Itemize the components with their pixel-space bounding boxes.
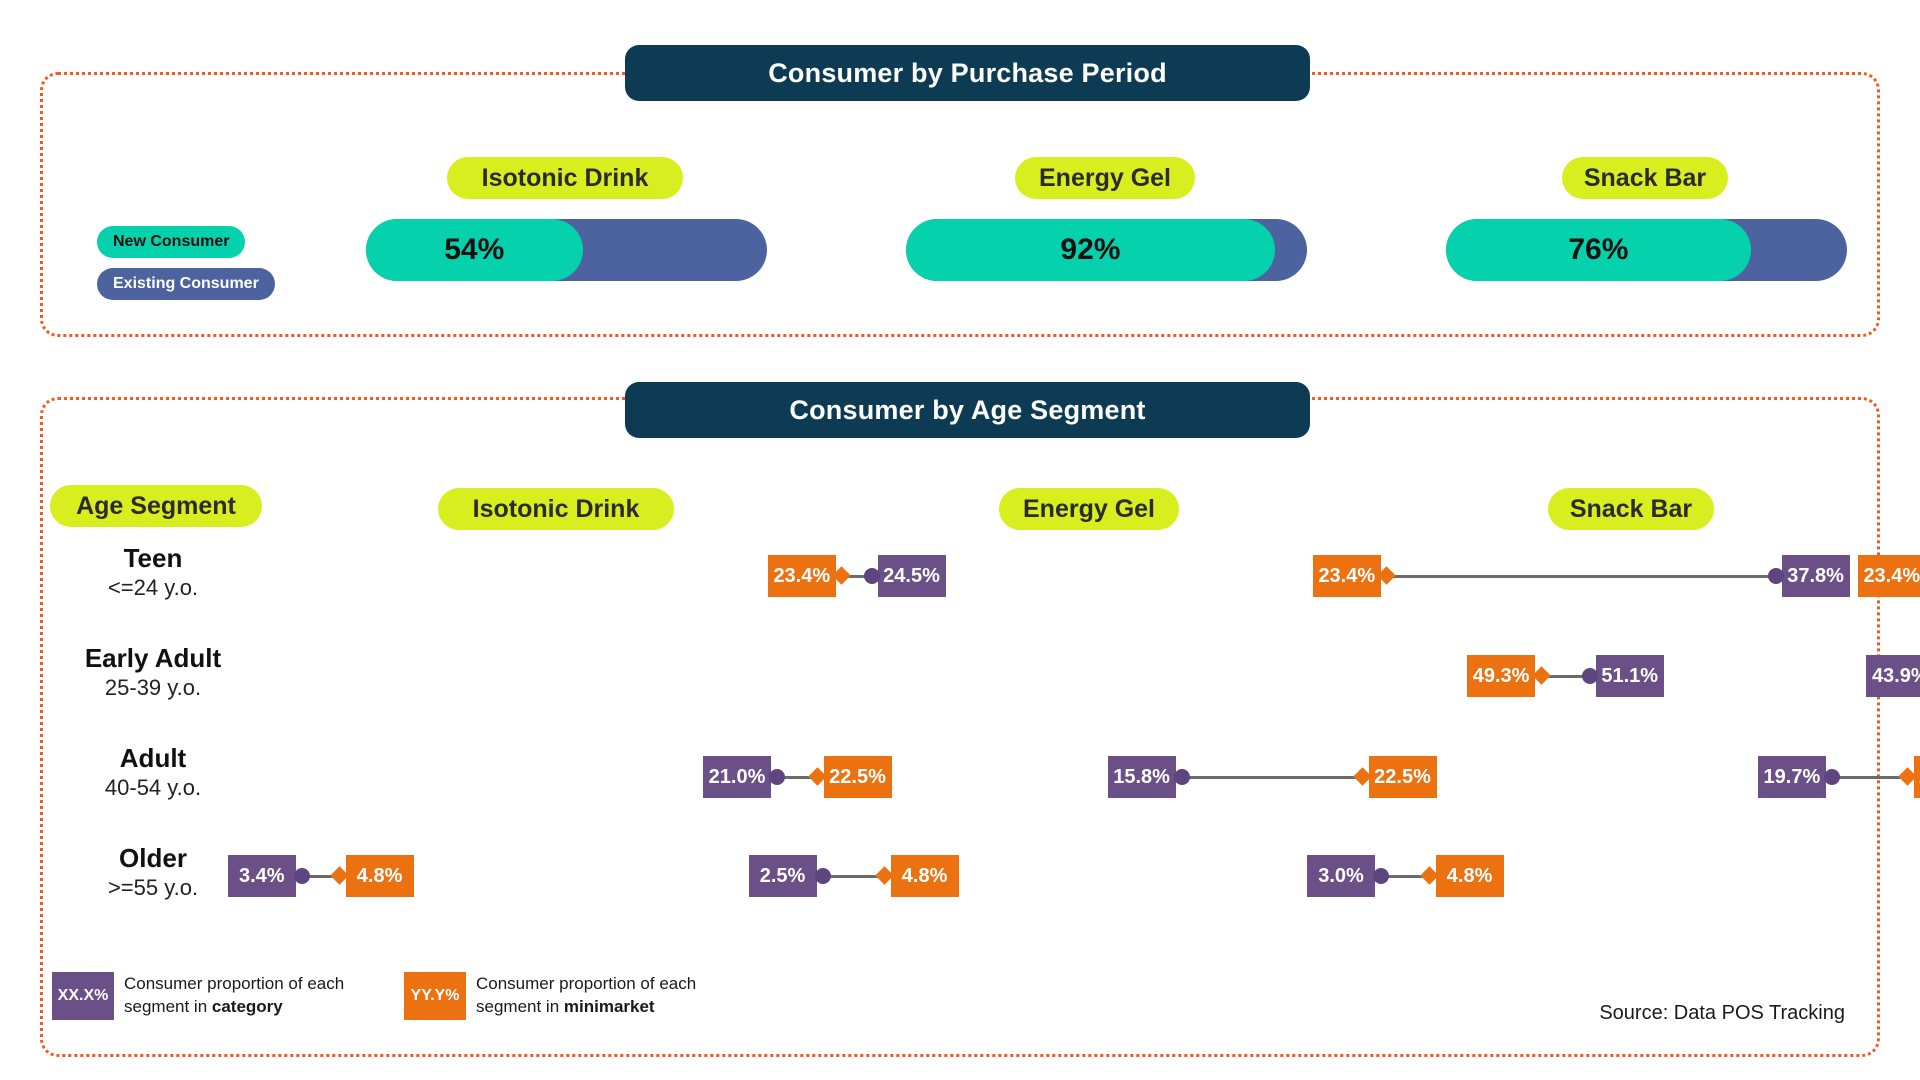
- footer-text-category-bold: category: [212, 997, 283, 1016]
- purchase-progress-track-1: 54%: [366, 219, 767, 281]
- category-circle-marker: [1824, 769, 1840, 785]
- age-column-header-3: Snack Bar: [1548, 488, 1714, 530]
- purchase-progress-track-3: 76%: [1446, 219, 1847, 281]
- age-segment-header-pill: Age Segment: [50, 485, 262, 527]
- purchase-progress-fill-3: 76%: [1446, 219, 1751, 281]
- legend-new-consumer: New Consumer: [97, 226, 245, 258]
- purchase-progress-fill-1: 54%: [366, 219, 583, 281]
- purchase-product-pill-1: Isotonic Drink: [447, 157, 683, 199]
- footer-chip-category: XX.X%: [52, 972, 114, 1020]
- dumbbell-adult-3: 22.5%19.7%: [0, 756, 1920, 798]
- dumbbell-early-adult-3: 49.3%50.0%: [0, 655, 1920, 697]
- legend-existing-consumer: Existing Consumer: [97, 268, 275, 300]
- category-value-box: 3.0%: [1307, 855, 1375, 897]
- age-column-header-2: Energy Gel: [999, 488, 1179, 530]
- purchase-product-pill-2: Energy Gel: [1015, 157, 1195, 199]
- footer-text-minimarket: Consumer proportion of each segment in m…: [476, 973, 726, 1019]
- footer-text-minimarket-bold: minimarket: [564, 997, 655, 1016]
- footer-legend-category: XX.X% Consumer proportion of each segmen…: [52, 972, 374, 1020]
- footer-text-category: Consumer proportion of each segment in c…: [124, 973, 374, 1019]
- dumbbell-connector: [1832, 776, 1908, 779]
- source-note: Source: Data POS Tracking: [1599, 1002, 1845, 1025]
- purchase-product-pill-3: Snack Bar: [1562, 157, 1728, 199]
- footer-legend-minimarket: YY.Y% Consumer proportion of each segmen…: [404, 972, 726, 1020]
- footer-chip-minimarket: YY.Y%: [404, 972, 466, 1020]
- age-segment-section-title: Consumer by Age Segment: [625, 382, 1310, 438]
- category-circle-marker: [1373, 868, 1389, 884]
- minimarket-value-box: 23.4%: [1858, 555, 1920, 597]
- purchase-progress-track-2: 92%: [906, 219, 1307, 281]
- dumbbell-older-3: 4.8%3.0%: [0, 855, 1920, 897]
- minimarket-value-box: 4.8%: [1436, 855, 1504, 897]
- category-value-box: 19.7%: [1758, 756, 1826, 798]
- age-column-header-1: Isotonic Drink: [438, 488, 674, 530]
- dumbbell-teen-3: 23.4%27.3%: [0, 555, 1920, 597]
- purchase-progress-fill-2: 92%: [906, 219, 1275, 281]
- purchase-period-section-title: Consumer by Purchase Period: [625, 45, 1310, 101]
- purchase-period-panel: [40, 72, 1880, 337]
